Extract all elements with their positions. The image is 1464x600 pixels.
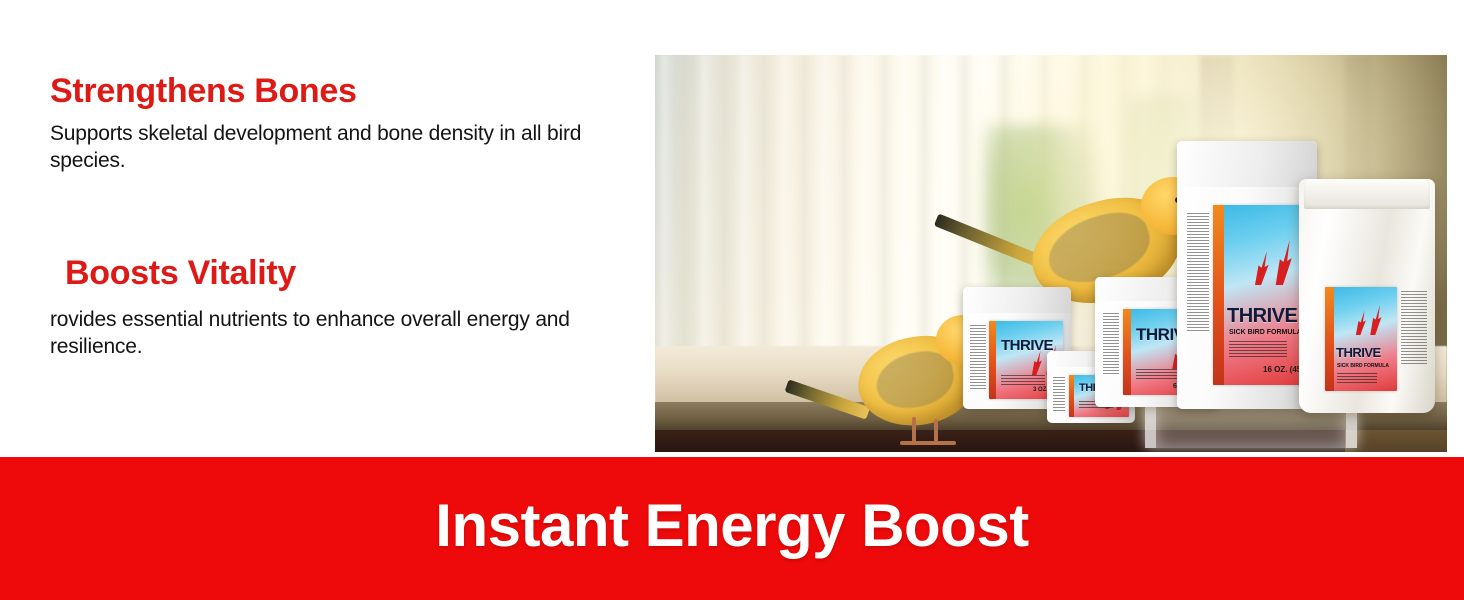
- label-spine: [1069, 375, 1074, 417]
- feature-block-boosts-vitality: Boosts Vitality rovides essential nutrie…: [50, 256, 640, 360]
- product-label: THRIVE SICK BIRD FORMULA: [1325, 287, 1397, 391]
- table-skirt-right: [1345, 430, 1447, 452]
- footer-banner: Instant Energy Boost: [0, 457, 1464, 600]
- label-bird-icon: [1353, 309, 1369, 335]
- feature-title: Boosts Vitality: [65, 256, 640, 292]
- label-side-text: [1187, 213, 1209, 333]
- label-spine: [1123, 309, 1131, 395]
- jar-lid: [1177, 141, 1317, 187]
- pouch-zip-seal: [1304, 179, 1429, 209]
- label-side-text: [1103, 313, 1119, 375]
- label-brand-name: THRIVE: [1336, 345, 1381, 360]
- label-detail-lines: [1337, 373, 1377, 383]
- product-photo: THRIVE 3 OZ. (85 g) THRIVE: [655, 55, 1447, 452]
- label-bird-icon: [1367, 303, 1385, 335]
- bird-leg: [912, 417, 916, 443]
- label-brand-name: THRIVE: [1001, 337, 1053, 354]
- label-subtitle: SICK BIRD FORMULA: [1229, 329, 1302, 336]
- feature-block-strengthens-bones: Strengthens Bones Supports skeletal deve…: [50, 74, 610, 174]
- label-bird-icon: [1271, 237, 1297, 285]
- label-subtitle: SICK BIRD FORMULA: [1337, 363, 1389, 369]
- feature-copy-column: Strengthens Bones Supports skeletal deve…: [0, 0, 655, 457]
- footer-headline: Instant Energy Boost: [435, 496, 1028, 562]
- feature-description: rovides essential nutrients to enhance o…: [50, 306, 640, 361]
- label-brand-name: THRIVE: [1227, 305, 1297, 328]
- product-tub-16oz: THRIVE SICK BIRD FORMULA 16 OZ. (454g): [1177, 141, 1317, 409]
- product-label: THRIVE SICK BIRD FORMULA 16 OZ. (454g): [1213, 205, 1309, 385]
- feature-title: Strengthens Bones: [50, 74, 610, 110]
- label-spine: [989, 321, 996, 399]
- label-subtitle-lines: [1001, 375, 1045, 386]
- label-bird-icon: [1251, 249, 1273, 285]
- label-spine: [1213, 205, 1224, 385]
- product-pouch-bulk: THRIVE SICK BIRD FORMULA: [1299, 179, 1435, 413]
- bird-leg: [934, 419, 938, 443]
- label-ingredients-panel: [1401, 291, 1427, 365]
- label-side-text: [970, 325, 986, 391]
- bird-foot: [924, 441, 956, 445]
- label-side-text: [1053, 377, 1065, 413]
- promo-banner: Strengthens Bones Supports skeletal deve…: [0, 0, 1464, 600]
- jar-lid: [963, 287, 1071, 313]
- label-tagline-lines: [1229, 341, 1287, 357]
- feature-description: Supports skeletal development and bone d…: [50, 120, 610, 175]
- label-spine: [1325, 287, 1334, 391]
